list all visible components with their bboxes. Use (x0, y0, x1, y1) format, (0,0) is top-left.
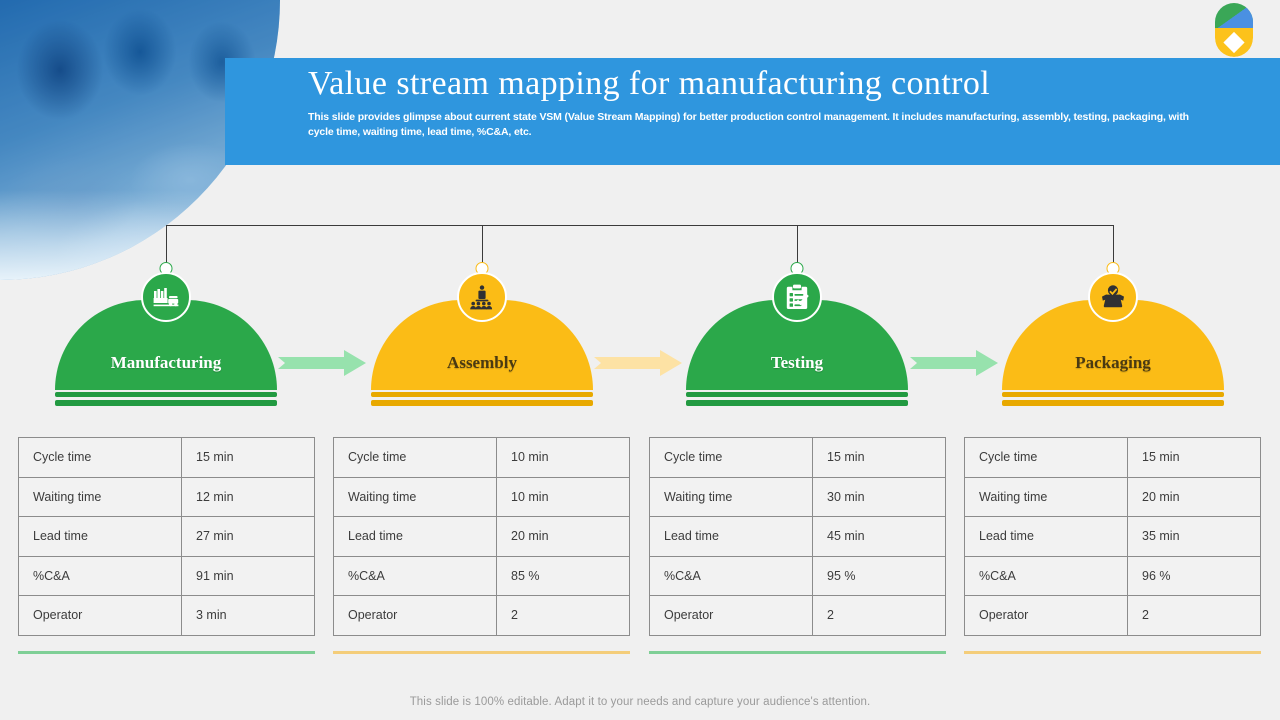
metric-value-testing-3: 95 % (813, 556, 946, 596)
stage-dome-manufacturing[interactable]: Manufacturing (55, 300, 277, 390)
hero-photo-fade (0, 190, 280, 280)
stage-base-bottom-packaging (1002, 400, 1224, 406)
metric-key-packaging-3: %C&A (965, 556, 1128, 596)
metric-value-packaging-3: 96 % (1128, 556, 1261, 596)
stage-base-top-manufacturing (55, 392, 277, 397)
metric-key-manufacturing-4: Operator (19, 596, 182, 636)
metric-value-testing-4: 2 (813, 596, 946, 636)
metric-value-assembly-4: 2 (497, 596, 630, 636)
arrow-head-packaging (976, 350, 998, 376)
metric-key-packaging-2: Lead time (965, 517, 1128, 557)
metric-value-manufacturing-1: 12 min (182, 477, 315, 517)
open-box-check-icon (1100, 285, 1126, 309)
stage-base-bottom-testing (686, 400, 908, 406)
table-row: Cycle time 15 min (965, 438, 1261, 478)
metrics-table-manufacturing: Cycle time 15 min Waiting time 12 min Le… (18, 437, 315, 636)
metrics-table-assembly: Cycle time 10 min Waiting time 10 min Le… (333, 437, 630, 636)
table-row: %C&A 85 % (334, 556, 630, 596)
metric-value-manufacturing-4: 3 min (182, 596, 315, 636)
arrow-shaft-testing (594, 357, 662, 369)
clipboard-checklist-icon (785, 284, 809, 310)
metric-value-manufacturing-2: 27 min (182, 517, 315, 557)
table-accent-packaging (964, 651, 1261, 654)
arrow-notch-assembly (278, 357, 285, 369)
arrow-shaft-assembly (278, 357, 346, 369)
metric-value-packaging-0: 15 min (1128, 438, 1261, 478)
factory-icon (153, 285, 179, 309)
stage-dome-assembly[interactable]: Assembly (371, 300, 593, 390)
table-row: Lead time 20 min (334, 517, 630, 557)
stage-label-testing: Testing (771, 353, 823, 390)
metric-value-manufacturing-3: 91 min (182, 556, 315, 596)
metric-key-assembly-3: %C&A (334, 556, 497, 596)
table-row: Lead time 27 min (19, 517, 315, 557)
table-row: Operator 3 min (19, 596, 315, 636)
table-row: %C&A 91 min (19, 556, 315, 596)
stage-assembly[interactable]: Assembly (371, 300, 593, 406)
presentation-audience-icon (469, 285, 495, 310)
metric-value-assembly-3: 85 % (497, 556, 630, 596)
process-connector-line (166, 225, 1114, 226)
metric-value-testing-1: 30 min (813, 477, 946, 517)
table-row: Cycle time 10 min (334, 438, 630, 478)
arrow-notch-packaging (910, 357, 917, 369)
table-row: Operator 2 (965, 596, 1261, 636)
footer-note: This slide is 100% editable. Adapt it to… (0, 696, 1280, 708)
table-row: Lead time 45 min (650, 517, 946, 557)
page-subtitle: This slide provides glimpse about curren… (308, 110, 1203, 140)
table-row: Waiting time 30 min (650, 477, 946, 517)
stage-label-packaging: Packaging (1075, 353, 1151, 390)
stage-badge-manufacturing[interactable] (141, 272, 191, 322)
metric-value-packaging-4: 2 (1128, 596, 1261, 636)
metric-key-packaging-0: Cycle time (965, 438, 1128, 478)
arrow-notch-testing (594, 357, 601, 369)
metric-key-manufacturing-3: %C&A (19, 556, 182, 596)
metric-value-manufacturing-0: 15 min (182, 438, 315, 478)
table-row: %C&A 96 % (965, 556, 1261, 596)
table-row: Waiting time 20 min (965, 477, 1261, 517)
brand-logo-icon (1215, 3, 1253, 57)
metric-value-packaging-1: 20 min (1128, 477, 1261, 517)
stage-badge-assembly[interactable] (457, 272, 507, 322)
table-row: Operator 2 (334, 596, 630, 636)
table-row: Lead time 35 min (965, 517, 1261, 557)
stage-base-bottom-manufacturing (55, 400, 277, 406)
metric-key-packaging-4: Operator (965, 596, 1128, 636)
stage-packaging[interactable]: Packaging (1002, 300, 1224, 406)
logo-blue-triangle (1215, 3, 1253, 30)
stage-badge-packaging[interactable] (1088, 272, 1138, 322)
flow-arrow-manufacturing-to-assembly (278, 350, 370, 376)
metric-value-packaging-2: 35 min (1128, 517, 1261, 557)
table-row: Cycle time 15 min (19, 438, 315, 478)
metric-value-assembly-2: 20 min (497, 517, 630, 557)
metric-key-manufacturing-1: Waiting time (19, 477, 182, 517)
arrow-shaft-packaging (910, 357, 978, 369)
metric-key-assembly-4: Operator (334, 596, 497, 636)
table-row: Operator 2 (650, 596, 946, 636)
page-title: Value stream mapping for manufacturing c… (308, 64, 1228, 104)
flow-arrow-assembly-to-testing (594, 350, 686, 376)
table-accent-manufacturing (18, 651, 315, 654)
metric-key-testing-4: Operator (650, 596, 813, 636)
metric-key-testing-0: Cycle time (650, 438, 813, 478)
metrics-table-packaging: Cycle time 15 min Waiting time 20 min Le… (964, 437, 1261, 636)
metrics-table-testing: Cycle time 15 min Waiting time 30 min Le… (649, 437, 946, 636)
table-row: Cycle time 15 min (650, 438, 946, 478)
stage-base-top-packaging (1002, 392, 1224, 397)
metric-key-testing-3: %C&A (650, 556, 813, 596)
table-accent-testing (649, 651, 946, 654)
flow-arrow-testing-to-packaging (910, 350, 1002, 376)
table-row: Waiting time 12 min (19, 477, 315, 517)
stage-base-bottom-assembly (371, 400, 593, 406)
metric-value-assembly-1: 10 min (497, 477, 630, 517)
stage-manufacturing[interactable]: Manufacturing (55, 300, 277, 406)
stage-base-top-assembly (371, 392, 593, 397)
stage-badge-testing[interactable] (772, 272, 822, 322)
metric-key-manufacturing-0: Cycle time (19, 438, 182, 478)
metric-key-assembly-0: Cycle time (334, 438, 497, 478)
metric-key-testing-1: Waiting time (650, 477, 813, 517)
stage-dome-testing[interactable]: Testing (686, 300, 908, 390)
metric-value-assembly-0: 10 min (497, 438, 630, 478)
metric-key-testing-2: Lead time (650, 517, 813, 557)
metric-key-assembly-2: Lead time (334, 517, 497, 557)
metric-value-testing-2: 45 min (813, 517, 946, 557)
metric-key-packaging-1: Waiting time (965, 477, 1128, 517)
table-row: %C&A 95 % (650, 556, 946, 596)
table-row: Waiting time 10 min (334, 477, 630, 517)
stage-dome-packaging[interactable]: Packaging (1002, 300, 1224, 390)
stage-label-manufacturing: Manufacturing (111, 353, 222, 390)
stage-testing[interactable]: Testing (686, 300, 908, 406)
table-accent-assembly (333, 651, 630, 654)
arrow-head-testing (660, 350, 682, 376)
header-content: Value stream mapping for manufacturing c… (308, 64, 1228, 141)
metric-key-assembly-1: Waiting time (334, 477, 497, 517)
stage-base-top-testing (686, 392, 908, 397)
arrow-head-assembly (344, 350, 366, 376)
metric-value-testing-0: 15 min (813, 438, 946, 478)
metric-key-manufacturing-2: Lead time (19, 517, 182, 557)
stage-label-assembly: Assembly (447, 353, 517, 390)
